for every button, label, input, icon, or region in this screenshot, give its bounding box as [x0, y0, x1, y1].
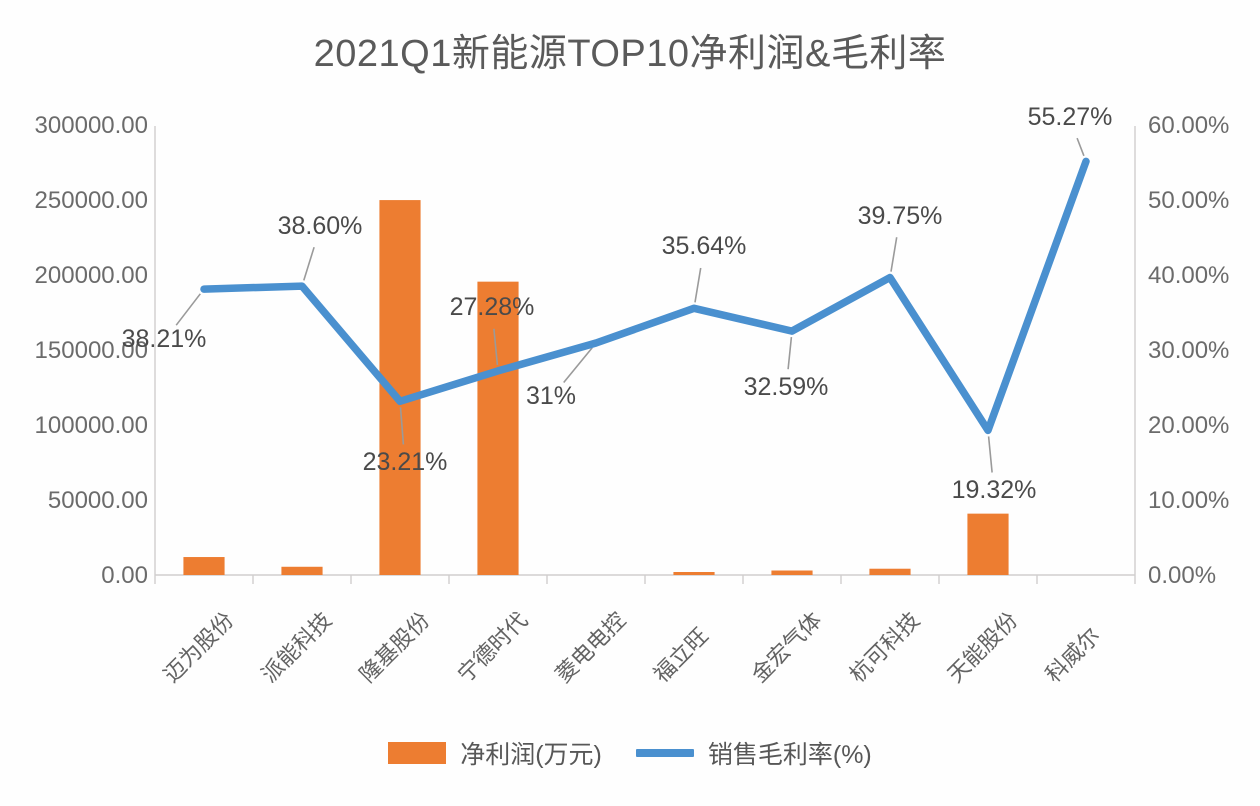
- leader-line-1: [304, 247, 314, 280]
- legend-item-net-profit[interactable]: 净利润(万元): [388, 735, 602, 771]
- leader-line-7: [891, 237, 897, 271]
- bar-8[interactable]: [967, 514, 1008, 575]
- bar-1[interactable]: [281, 567, 322, 575]
- point-label-8: 19.32%: [952, 478, 1037, 503]
- leader-line-8: [989, 436, 993, 472]
- label-leader-lines: [176, 138, 1084, 472]
- legend-item-gross-margin[interactable]: 销售毛利率(%): [636, 735, 872, 771]
- chart-legend: 净利润(万元) 销售毛利率(%): [0, 735, 1260, 771]
- line-swatch-icon: [636, 749, 694, 757]
- bar-swatch-icon: [388, 742, 446, 764]
- bar-3[interactable]: [477, 282, 518, 575]
- leader-line-5: [695, 268, 701, 302]
- point-label-1: 38.60%: [278, 214, 363, 239]
- point-label-5: 35.64%: [662, 234, 747, 259]
- point-label-4: 31%: [526, 384, 576, 409]
- point-label-3: 27.28%: [450, 295, 535, 320]
- bar-5[interactable]: [673, 572, 714, 575]
- legend-label-net-profit: 净利润(万元): [460, 735, 602, 771]
- leader-line-9: [1077, 138, 1084, 156]
- point-label-9: 55.27%: [1028, 105, 1113, 130]
- bar-series: [183, 200, 1008, 575]
- bar-0[interactable]: [183, 557, 224, 575]
- leader-line-6: [788, 337, 791, 369]
- bar-6[interactable]: [771, 571, 812, 575]
- point-label-6: 32.59%: [744, 375, 829, 400]
- bar-7[interactable]: [869, 569, 910, 575]
- x-axis-tick-marks: [155, 575, 1135, 584]
- point-label-0: 38.21%: [122, 327, 207, 352]
- line-series: [204, 161, 1086, 430]
- chart-container: 2021Q1新能源TOP10净利润&毛利率 300000.00 250000.0…: [0, 0, 1260, 806]
- legend-label-gross-margin: 销售毛利率(%): [708, 735, 872, 771]
- leader-line-0: [176, 294, 200, 325]
- point-label-7: 39.75%: [858, 204, 943, 229]
- point-label-2: 23.21%: [363, 450, 448, 475]
